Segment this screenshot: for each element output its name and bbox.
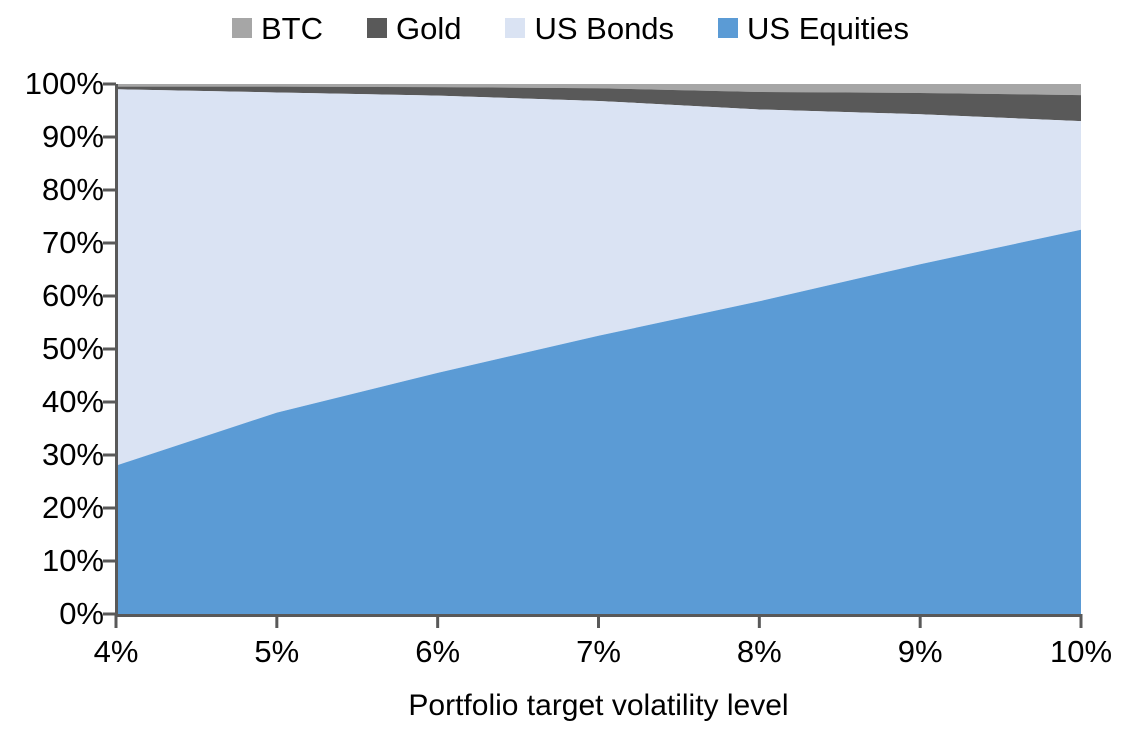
x-axis-tick-label: 5% xyxy=(254,636,299,667)
stacked-area-chart: BTC Gold US Bonds US Equities xyxy=(0,0,1141,742)
x-axis-title: Portfolio target volatility level xyxy=(116,690,1081,722)
x-axis-tick-label: 6% xyxy=(415,636,460,667)
x-axis-tick-label: 4% xyxy=(94,636,139,667)
x-axis-tick-label: 8% xyxy=(737,636,782,667)
x-axis-tick-label: 10% xyxy=(1050,636,1112,667)
x-axis-tick-label: 7% xyxy=(576,636,621,667)
x-axis-tick-label: 9% xyxy=(898,636,943,667)
x-axis-labels: 4%5%6%7%8%9%10% xyxy=(0,0,1141,742)
plot-area: 100%90%80%70%60%50%40%30%20%10%0% 4%5%6%… xyxy=(0,0,1141,742)
